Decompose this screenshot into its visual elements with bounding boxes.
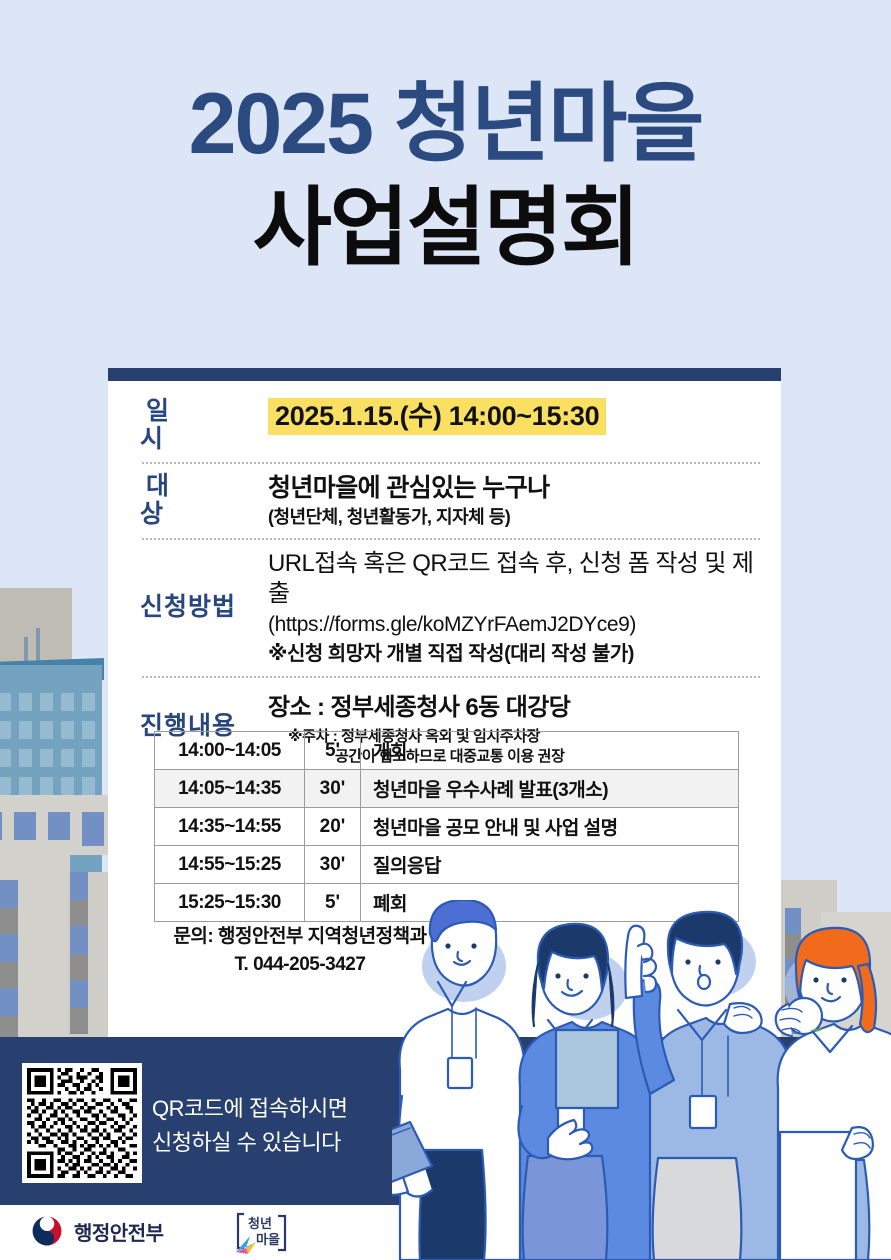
- schedule-time: 14:55~15:25: [155, 846, 305, 884]
- qr-caption-line-2: 신청하실 수 있습니다: [152, 1126, 382, 1160]
- taegeuk-icon: [30, 1214, 64, 1248]
- table-row: 14:35~14:55 20' 청년마을 공모 안내 및 사업 설명: [155, 808, 739, 846]
- person-3: [625, 912, 792, 1260]
- schedule-time: 14:35~14:55: [155, 808, 305, 846]
- person-1: [392, 900, 524, 1260]
- datetime-highlight: 2025.1.15.(수) 14:00~15:30: [268, 398, 606, 435]
- audience-sub: (청년단체, 청년활동가, 지자체 등): [268, 506, 760, 529]
- schedule-desc: 질의응답: [361, 846, 739, 884]
- panel-top-accent-bar: [108, 368, 781, 381]
- schedule-time: 14:05~14:35: [155, 770, 305, 808]
- info-row-application: 신청방법 URL접속 혹은 QR코드 접속 후, 신청 폼 작성 및 제출 (h…: [140, 549, 760, 666]
- info-label-datetime: 일 시: [140, 398, 268, 453]
- ministry-logo: 행정안전부: [30, 1214, 164, 1248]
- audience-main: 청년마을에 관심있는 누구나: [268, 473, 760, 503]
- schedule-duration: 30': [305, 846, 361, 884]
- application-url[interactable]: (https://forms.gle/koMZYrFAemJ2DYce9): [268, 611, 760, 638]
- info-value-audience: 청년마을에 관심있는 누구나 (청년단체, 청년활동가, 지자체 등): [268, 473, 760, 529]
- ministry-logo-text: 행정안전부: [74, 1217, 164, 1246]
- info-value-datetime: 2025.1.15.(수) 14:00~15:30: [268, 398, 760, 435]
- info-label-audience: 대 상: [140, 473, 268, 528]
- info-separator: [142, 538, 760, 540]
- people-illustration: [392, 900, 891, 1260]
- info-separator: [142, 462, 760, 464]
- poster-title: 2025 청년마을 사업설명회: [0, 76, 891, 277]
- info-table: 일 시 2025.1.15.(수) 14:00~15:30 대 상 청년마을에 …: [140, 398, 760, 767]
- info-row-audience: 대 상 청년마을에 관심있는 누구나 (청년단체, 청년활동가, 지자체 등): [140, 473, 760, 529]
- info-separator: [142, 676, 760, 678]
- schedule-table: 14:00~14:05 5' 개회 14:05~14:35 30' 청년마을 우…: [154, 731, 739, 922]
- schedule-time: 15:25~15:30: [155, 884, 305, 922]
- building-left-mid-windows: [0, 840, 116, 1060]
- schedule-duration: 5': [305, 732, 361, 770]
- program-place: 장소 : 정부세종청사 6동 대강당: [268, 687, 760, 722]
- title-line-2: 사업설명회: [0, 180, 891, 276]
- schedule-time: 14:00~14:05: [155, 732, 305, 770]
- application-main: URL접속 혹은 QR코드 접속 후, 신청 폼 작성 및 제출: [268, 549, 760, 609]
- table-row: 14:05~14:35 30' 청년마을 우수사례 발표(3개소): [155, 770, 739, 808]
- title-line-1: 2025 청년마을: [0, 76, 891, 172]
- schedule-desc: 개회: [361, 732, 739, 770]
- youth-village-logo: 청년 마을: [228, 1208, 296, 1256]
- youth-logo-text-2: 마을: [256, 1232, 280, 1247]
- info-row-datetime: 일 시 2025.1.15.(수) 14:00~15:30: [140, 398, 760, 453]
- application-note: ※신청 희망자 개별 직접 작성(대리 작성 불가): [268, 641, 760, 667]
- schedule-desc: 청년마을 우수사례 발표(3개소): [361, 770, 739, 808]
- qr-code-icon[interactable]: [27, 1068, 137, 1178]
- schedule-duration: 5': [305, 884, 361, 922]
- table-row: 14:55~15:25 30' 질의응답: [155, 846, 739, 884]
- qr-caption: QR코드에 접속하시면 신청하실 수 있습니다: [152, 1092, 382, 1160]
- youth-logo-text-1: 청년: [248, 1216, 272, 1231]
- schedule-duration: 20': [305, 808, 361, 846]
- schedule-desc: 청년마을 공모 안내 및 사업 설명: [361, 808, 739, 846]
- info-label-application: 신청방법: [140, 594, 268, 622]
- schedule-duration: 30': [305, 770, 361, 808]
- poster-root: 2025 청년마을 사업설명회 일 시 2025.1.15.(수) 14:00~…: [0, 0, 891, 1260]
- info-value-application: URL접속 혹은 QR코드 접속 후, 신청 폼 작성 및 제출 (https:…: [268, 549, 760, 666]
- qr-caption-line-1: QR코드에 접속하시면: [152, 1092, 382, 1126]
- qr-code-container[interactable]: [22, 1063, 142, 1183]
- table-row: 14:00~14:05 5' 개회: [155, 732, 739, 770]
